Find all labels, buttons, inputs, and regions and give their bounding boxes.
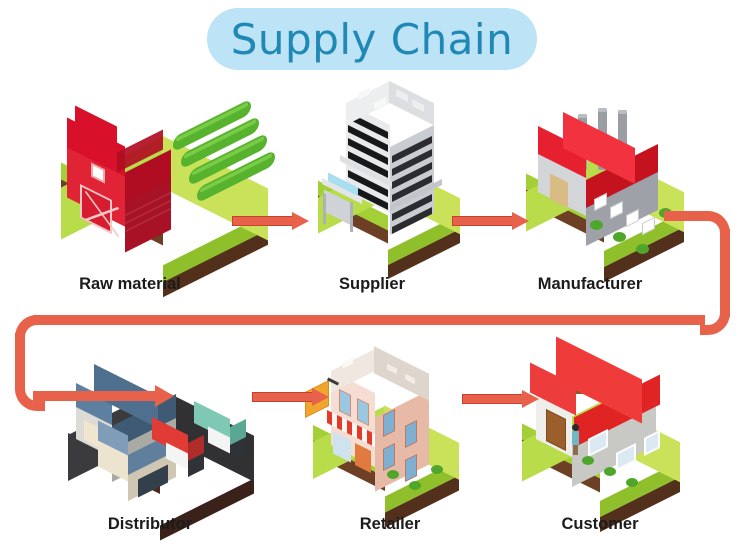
canopy-pillar <box>323 194 326 224</box>
node-label-customer: Customer <box>500 515 700 534</box>
bush <box>387 470 399 479</box>
wrap-segment-bottom <box>33 391 157 401</box>
node-label-supplier: Supplier <box>282 275 462 294</box>
arrow-supplier-to-manufacturer <box>452 212 530 230</box>
bush <box>613 232 626 242</box>
node-label-raw-material: Raw material <box>20 275 240 294</box>
node-label-retailer: Retailer <box>300 515 480 534</box>
canopy-pillar <box>350 202 353 232</box>
bush <box>431 465 443 474</box>
arrow-distributor-to-retailer <box>252 388 330 406</box>
person-body <box>572 431 579 445</box>
bush <box>409 481 421 490</box>
node-supplier[interactable] <box>312 84 472 254</box>
bush <box>604 467 616 476</box>
node-retailer[interactable] <box>305 352 480 497</box>
bush <box>590 220 603 230</box>
arrow-raw-to-supplier <box>232 212 310 230</box>
bush <box>636 244 649 254</box>
arrow-retailer-to-customer <box>462 390 540 408</box>
bush <box>626 478 638 487</box>
shop-window <box>405 454 417 482</box>
node-distributor[interactable] <box>62 352 262 497</box>
node-label-distributor: Distributor <box>40 515 260 534</box>
supply-chain-diagram: Supply Chain Raw material <box>0 0 740 549</box>
wrap-segment-middle <box>33 315 705 325</box>
person-legs <box>573 445 578 455</box>
node-label-manufacturer: Manufacturer <box>480 275 700 294</box>
person-head <box>572 424 579 431</box>
node-raw-material[interactable] <box>55 108 270 253</box>
wrap-arrowhead <box>155 385 174 407</box>
node-manufacturer[interactable] <box>520 108 695 253</box>
bush <box>582 456 594 465</box>
page-title: Supply Chain <box>207 8 537 70</box>
wrap-segment-right <box>720 229 730 317</box>
shop-roof-right-half <box>374 346 429 401</box>
node-customer[interactable] <box>512 350 702 498</box>
